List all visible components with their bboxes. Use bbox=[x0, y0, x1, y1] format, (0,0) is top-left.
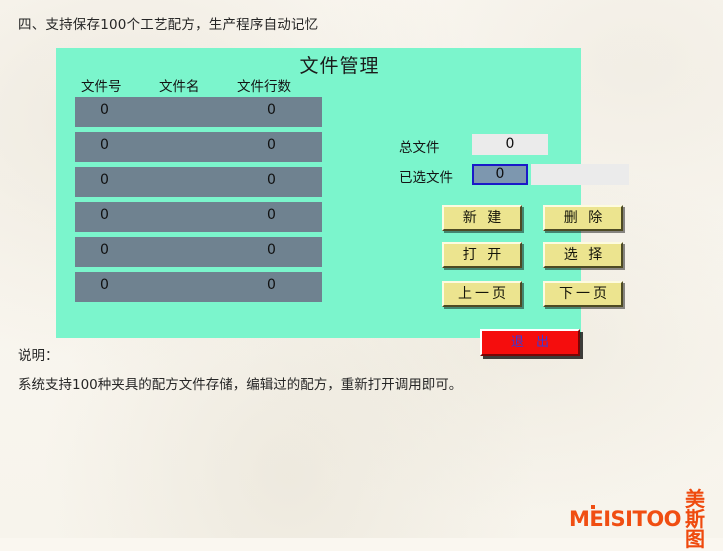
cell-file-lines: 0 bbox=[267, 137, 276, 153]
cell-file-lines: 0 bbox=[267, 207, 276, 223]
next-page-button[interactable]: 下一页 bbox=[543, 281, 623, 307]
table-row[interactable]: 0 0 bbox=[75, 237, 322, 267]
cell-file-no: 0 bbox=[100, 207, 109, 223]
delete-button[interactable]: 删 除 bbox=[543, 205, 623, 231]
cell-file-no: 0 bbox=[100, 172, 109, 188]
brand-dot-accent bbox=[591, 505, 595, 509]
table-row[interactable]: 0 0 bbox=[75, 272, 322, 302]
table-row[interactable]: 0 0 bbox=[75, 167, 322, 197]
table-row[interactable]: 0 0 bbox=[75, 202, 322, 232]
cell-file-lines: 0 bbox=[267, 242, 276, 258]
cell-file-lines: 0 bbox=[267, 172, 276, 188]
total-files-label: 总文件 bbox=[399, 136, 440, 156]
column-header-file-no: 文件号 bbox=[81, 75, 122, 95]
total-files-value: 0 bbox=[472, 134, 548, 155]
notes-block: 说明： 系统支持100种夹具的配方文件存储，编辑过的配方，重新打开调用即可。 bbox=[18, 344, 462, 393]
file-management-panel: 文件管理 文件号 文件名 文件行数 0 0 0 0 0 0 0 0 0 bbox=[56, 48, 581, 338]
selected-file-name-field[interactable] bbox=[531, 164, 629, 185]
cell-file-lines: 0 bbox=[267, 102, 276, 118]
file-table: 文件号 文件名 文件行数 0 0 0 0 0 0 0 0 0 0 bbox=[75, 75, 322, 307]
brand-latin-wordmark: MEISITOO bbox=[569, 509, 681, 530]
prev-page-button[interactable]: 上一页 bbox=[442, 281, 522, 307]
cell-file-no: 0 bbox=[100, 242, 109, 258]
brand-chinese-wordmark: 美斯图 bbox=[685, 489, 723, 549]
section-heading: 四、支持保存100个工艺配方，生产程序自动记忆 bbox=[18, 13, 318, 33]
new-button[interactable]: 新 建 bbox=[442, 205, 522, 231]
cell-file-no: 0 bbox=[100, 277, 109, 293]
selected-files-input[interactable]: 0 bbox=[472, 164, 528, 185]
cell-file-no: 0 bbox=[100, 102, 109, 118]
file-table-header: 文件号 文件名 文件行数 bbox=[75, 75, 322, 97]
table-row[interactable]: 0 0 bbox=[75, 97, 322, 127]
exit-button[interactable]: 退 出 bbox=[480, 329, 580, 356]
column-header-file-lines: 文件行数 bbox=[237, 75, 291, 95]
panel-title: 文件管理 bbox=[56, 51, 581, 78]
column-header-file-name: 文件名 bbox=[159, 75, 200, 95]
notes-text: 系统支持100种夹具的配方文件存储，编辑过的配方，重新打开调用即可。 bbox=[18, 373, 462, 393]
table-row[interactable]: 0 0 bbox=[75, 132, 322, 162]
notes-label: 说明： bbox=[18, 344, 462, 364]
open-button[interactable]: 打 开 bbox=[442, 242, 522, 268]
cell-file-no: 0 bbox=[100, 137, 109, 153]
select-button[interactable]: 选 择 bbox=[543, 242, 623, 268]
cell-file-lines: 0 bbox=[267, 277, 276, 293]
selected-files-label: 已选文件 bbox=[399, 166, 453, 186]
brand-logo: MEISITOO 美斯图 bbox=[569, 506, 723, 532]
